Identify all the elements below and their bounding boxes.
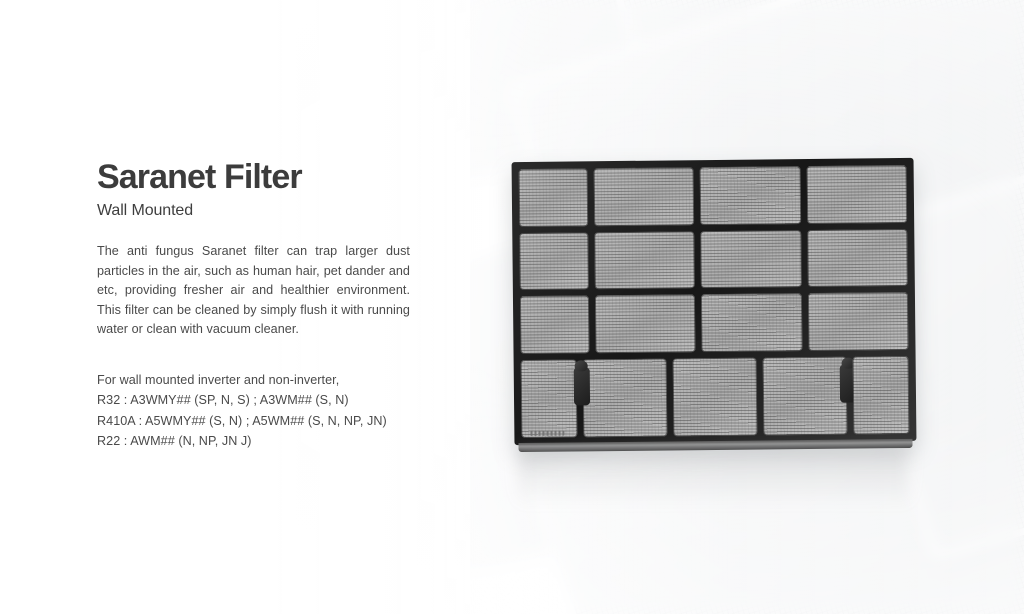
product-reflection (518, 446, 910, 506)
compatibility-line-r32: R32 : A3WMY## (SP, N, S) ; A3WM## (S, N) (97, 390, 410, 410)
compatibility-intro: For wall mounted inverter and non-invert… (97, 370, 410, 390)
filter-mesh-cell (673, 358, 758, 437)
embossed-marking (530, 431, 564, 436)
filter-mesh-cell (520, 296, 590, 354)
filter-mesh-cell (808, 292, 909, 351)
filter-frame (512, 158, 917, 445)
product-page: Saranet Filter Wall Mounted The anti fun… (0, 0, 1024, 614)
filter-row (519, 229, 908, 291)
filter-mesh-cell (853, 356, 910, 435)
filter-clip-knob (575, 360, 588, 371)
filter-row-bottom (521, 356, 910, 438)
product-image (512, 158, 917, 445)
filter-mesh-cell (583, 359, 668, 438)
filter-clip-notch (574, 367, 590, 405)
filter-mesh-cell (806, 165, 907, 224)
filter-mesh-cell (519, 168, 589, 226)
filter-mesh-cell (701, 293, 802, 352)
product-description: The anti fungus Saranet filter can trap … (97, 242, 410, 340)
filter-mesh-cell (701, 230, 802, 289)
compatibility-line-r22: R22 : AWM## (N, NP, JN J) (97, 431, 410, 451)
filter-row (519, 165, 908, 227)
compatibility-line-r410a: R410A : A5WMY## (S, N) ; A5WM## (S, N, N… (97, 411, 410, 431)
filter-mesh-cell (595, 295, 696, 354)
page-title: Saranet Filter (97, 158, 410, 196)
filter-mesh-cell (763, 357, 848, 436)
filter-mesh-cell (700, 166, 801, 225)
filter-row (520, 292, 909, 354)
filter-mesh-cell (521, 359, 578, 438)
filter-mesh-cell (594, 231, 695, 290)
product-text-column: Saranet Filter Wall Mounted The anti fun… (97, 158, 410, 452)
page-subtitle: Wall Mounted (97, 202, 410, 220)
filter-mesh-cell (594, 167, 695, 226)
filter-mesh-cell (519, 232, 589, 290)
filter-mesh-cell (807, 229, 908, 288)
compatibility-list: For wall mounted inverter and non-invert… (97, 370, 410, 452)
